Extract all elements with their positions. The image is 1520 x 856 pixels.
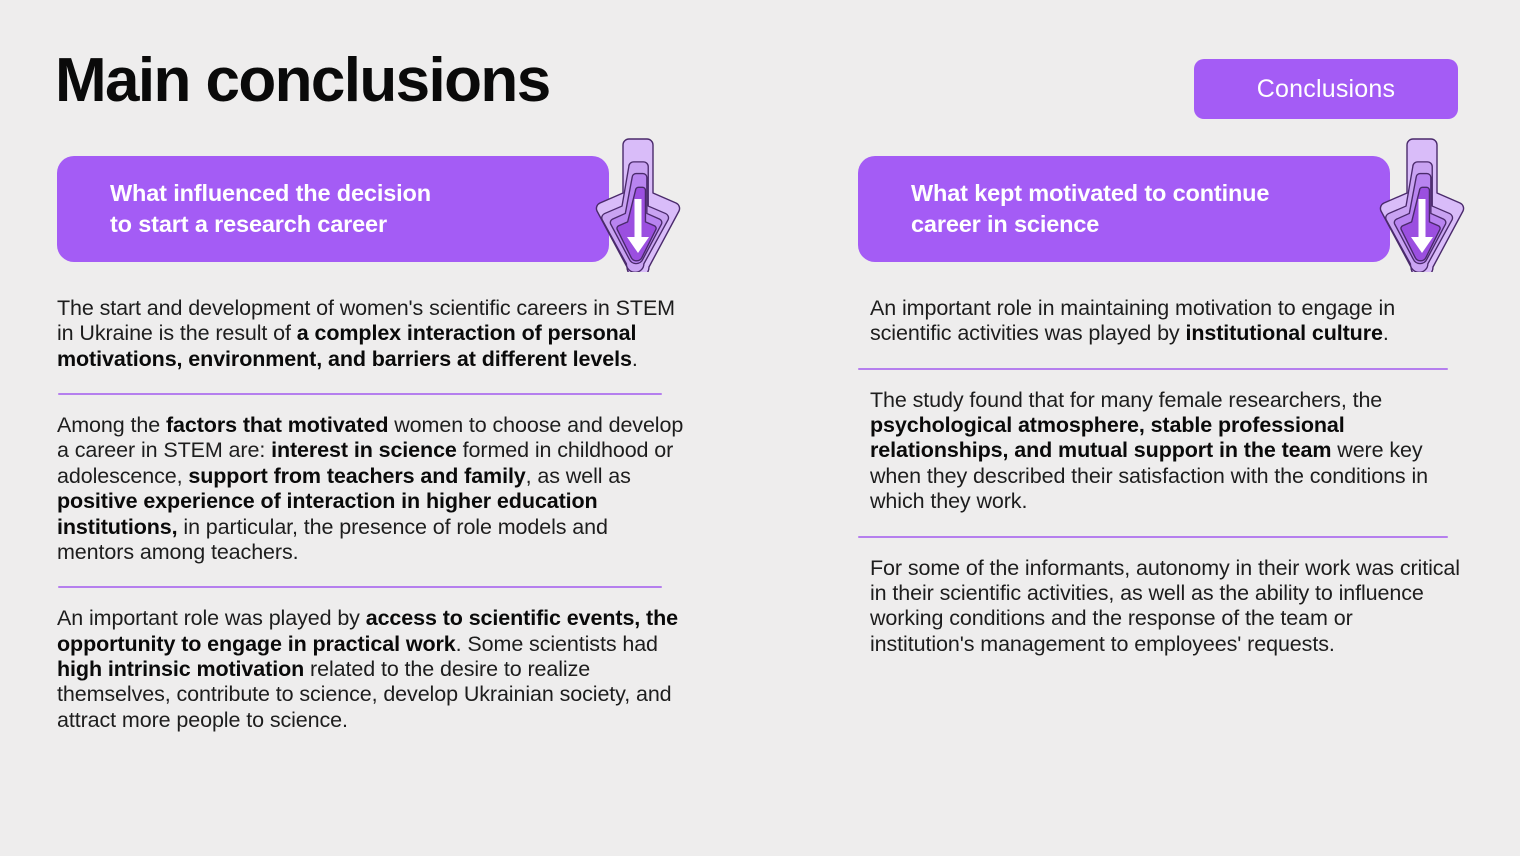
paragraph-text: An important role was played by access t… (57, 606, 687, 733)
list-item: An important role was played by access t… (57, 606, 687, 733)
list-item: For some of the informants, autonomy in … (870, 556, 1460, 657)
divider (858, 536, 1448, 538)
section-badge-label: Conclusions (1257, 75, 1395, 104)
paragraph-text: For some of the informants, autonomy in … (870, 556, 1460, 657)
section-badge: Conclusions (1194, 59, 1458, 119)
paragraph-text: An important role in maintaining motivat… (870, 296, 1460, 347)
page-title: Main conclusions (55, 48, 550, 113)
list-item: The study found that for many female res… (870, 388, 1460, 515)
conclusion-list-left: The start and development of women's sci… (57, 296, 687, 733)
header-card-left-title: What influenced the decision to start a … (57, 178, 449, 240)
paragraph-text: Among the factors that motivated women t… (57, 413, 687, 565)
paragraph-text: The start and development of women's sci… (57, 296, 687, 372)
divider (58, 393, 662, 395)
slide-canvas: Main conclusions Conclusions What influe… (0, 0, 1520, 856)
paragraph-text: The study found that for many female res… (870, 388, 1460, 515)
list-item: Among the factors that motivated women t… (57, 413, 687, 565)
header-card-right-title: What kept motivated to continue career i… (858, 178, 1287, 240)
header-card-left: What influenced the decision to start a … (57, 156, 609, 262)
list-item: An important role in maintaining motivat… (870, 296, 1460, 347)
header-card-right: What kept motivated to continue career i… (858, 156, 1390, 262)
list-item: The start and development of women's sci… (57, 296, 687, 372)
divider (58, 586, 662, 588)
conclusion-list-right: An important role in maintaining motivat… (870, 296, 1460, 657)
divider (858, 368, 1448, 370)
